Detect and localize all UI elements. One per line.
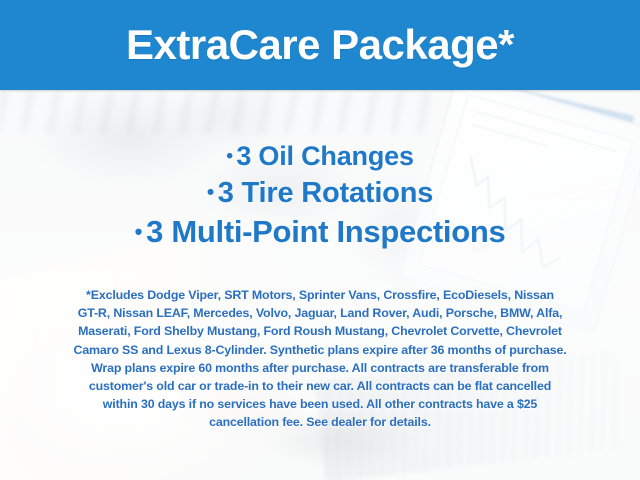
disclaimer-line: GT-R, Nissan LEAF, Mercedes, Volvo, Jagu… bbox=[18, 304, 622, 322]
page-title: ExtraCare Package* bbox=[0, 20, 640, 70]
header-banner: ExtraCare Package* bbox=[0, 0, 640, 90]
benefit-item-tire-rotations: •3 Tire Rotations bbox=[0, 174, 640, 212]
benefit-item-multi-point-inspections: •3 Multi-Point Inspections bbox=[0, 212, 640, 252]
disclaimer-line: cancellation fee. See dealer for details… bbox=[18, 413, 622, 431]
disclaimer-line: Camaro SS and Lexus 8-Cylinder. Syntheti… bbox=[18, 341, 622, 359]
disclaimer-line: customer's old car or trade-in to their … bbox=[18, 377, 622, 395]
benefit-label: 3 Multi-Point Inspections bbox=[146, 214, 505, 249]
benefit-label: 3 Tire Rotations bbox=[218, 177, 433, 209]
benefit-item-oil-changes: •3 Oil Changes bbox=[0, 139, 640, 174]
bullet-dot-icon: • bbox=[135, 219, 143, 244]
disclaimer-line: *Excludes Dodge Viper, SRT Motors, Sprin… bbox=[18, 286, 622, 304]
bullet-dot-icon: • bbox=[226, 145, 233, 167]
benefit-label: 3 Oil Changes bbox=[236, 141, 413, 171]
disclaimer-line: within 30 days if no services have been … bbox=[18, 395, 622, 413]
bullet-dot-icon: • bbox=[207, 181, 214, 204]
disclaimer-fineprint: *Excludes Dodge Viper, SRT Motors, Sprin… bbox=[18, 286, 622, 432]
extracare-package-poster: ExtraCare Package* •3 Oil Changes •3 Tir… bbox=[0, 0, 640, 480]
disclaimer-line: Wrap plans expire 60 months after purcha… bbox=[18, 359, 622, 377]
benefits-list: •3 Oil Changes •3 Tire Rotations •3 Mult… bbox=[0, 139, 640, 252]
disclaimer-line: Maserati, Ford Shelby Mustang, Ford Rous… bbox=[18, 322, 622, 340]
